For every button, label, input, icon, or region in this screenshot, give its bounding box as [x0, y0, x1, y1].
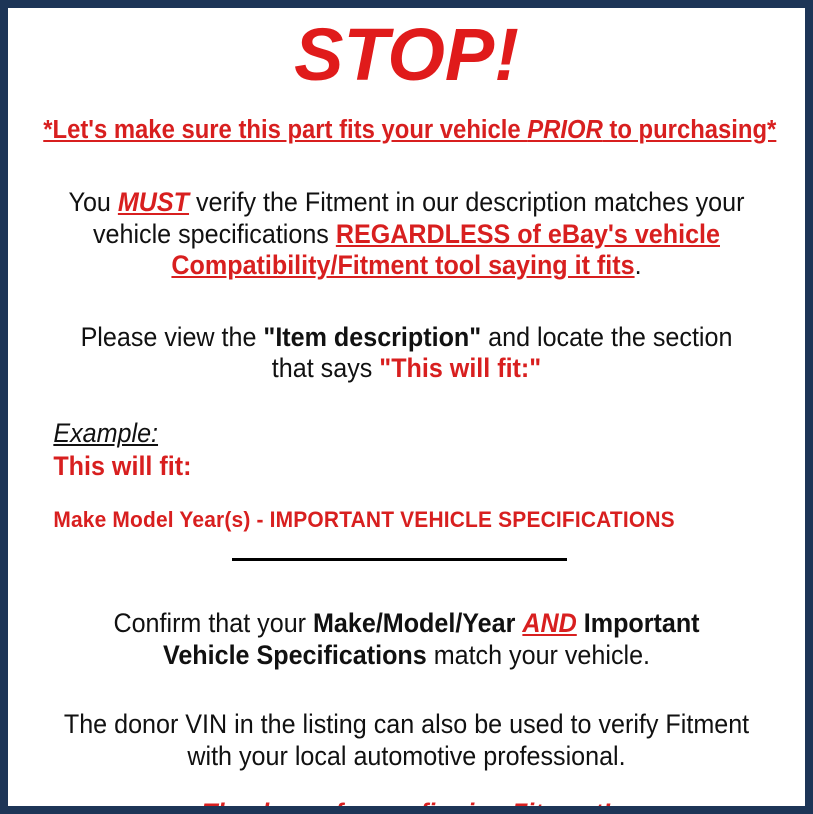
tagline-prefix: *Let's make sure this part fits your veh…: [43, 116, 527, 144]
divider-wrapper: [18, 558, 795, 572]
example-spec-line: Make Model Year(s) - IMPORTANT VEHICLE S…: [53, 507, 740, 532]
this-will-fit-label: "This will fit:": [379, 353, 541, 383]
item-description-label: "Item description": [263, 322, 481, 352]
must-text-part3: .: [635, 250, 642, 280]
closing-thanks: Thank you for confirming Fitment!: [45, 798, 768, 814]
horizontal-divider: [232, 558, 567, 561]
tagline-suffix: to purchasing*: [603, 116, 777, 144]
confirm-text-part2: match your vehicle.: [427, 640, 650, 670]
example-fit-heading: This will fit:: [53, 451, 740, 481]
make-model-year-emphasis: Make/Model/Year: [313, 608, 515, 638]
must-text-part1: You: [69, 187, 118, 217]
tagline: *Let's make sure this part fits your veh…: [43, 116, 769, 145]
page-title: STOP!: [18, 8, 795, 94]
confirm-paragraph: Confirm that your Make/Model/Year AND Im…: [45, 608, 768, 671]
and-emphasis: AND: [522, 608, 576, 638]
view-description-paragraph: Please view the "Item description" and l…: [45, 322, 768, 385]
must-emphasis: MUST: [118, 187, 189, 217]
vin-paragraph: The donor VIN in the listing can also be…: [45, 709, 768, 772]
must-verify-paragraph: You MUST verify the Fitment in our descr…: [45, 187, 768, 282]
view-text-part1: Please view the: [81, 322, 264, 352]
notice-content: STOP! *Let's make sure this part fits yo…: [8, 8, 805, 806]
tagline-emphasis: PRIOR: [527, 116, 603, 144]
example-label: Example:: [53, 419, 740, 449]
fitment-notice-card: STOP! *Let's make sure this part fits yo…: [0, 0, 813, 814]
confirm-text-part1: Confirm that your: [113, 608, 313, 638]
example-block: Example: This will fit: Make Model Year(…: [18, 419, 741, 532]
